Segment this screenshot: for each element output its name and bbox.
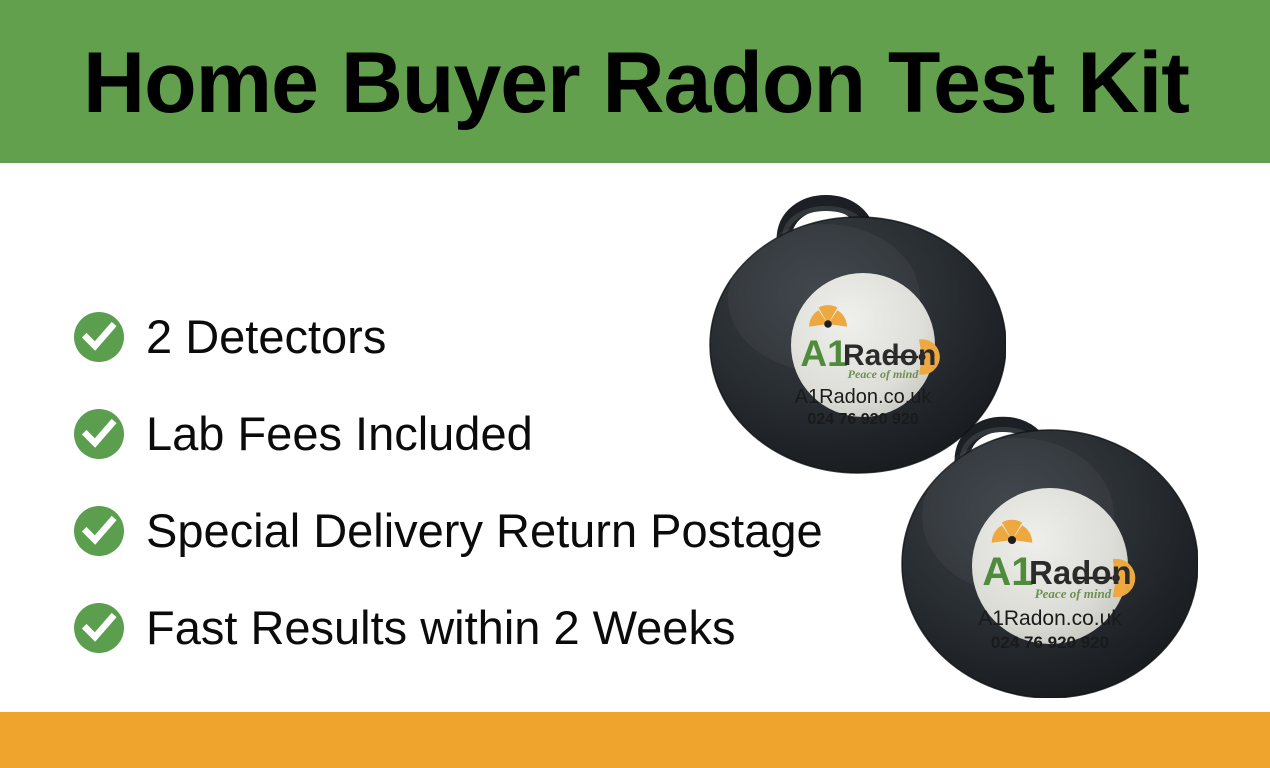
product-banner: Home Buyer Radon Test Kit 2 Detectors La… (0, 0, 1270, 768)
footer-banner (0, 712, 1270, 768)
label-website: A1Radon.co.uk (795, 386, 933, 408)
check-circle-icon (74, 409, 124, 459)
label-website: A1Radon.co.uk (978, 607, 1122, 630)
label-brand-a1: A1 (982, 550, 1033, 594)
label-phone: 024 76 920 920 (807, 411, 918, 428)
check-circle-icon (74, 506, 124, 556)
label-tagline: Peace of mind (848, 367, 920, 381)
list-item-label: Lab Fees Included (146, 408, 533, 460)
check-circle-icon (74, 312, 124, 362)
list-item: Special Delivery Return Postage (74, 482, 894, 579)
list-item-label: 2 Detectors (146, 311, 386, 363)
list-item: Fast Results within 2 Weeks (74, 579, 894, 676)
label-phone: 024 76 920 920 (991, 633, 1109, 652)
list-item-label: Special Delivery Return Postage (146, 505, 823, 557)
page-title: Home Buyer Radon Test Kit (83, 33, 1189, 133)
check-circle-icon (74, 603, 124, 653)
label-tagline: Peace of mind (1035, 586, 1112, 601)
radon-detector-front: A1 Radon Peace of mind A1Radon.co.uk 024… (706, 178, 1006, 474)
list-item-label: Fast Results within 2 Weeks (146, 602, 735, 654)
header-banner: Home Buyer Radon Test Kit (0, 0, 1270, 163)
label-brand-a1: A1 (800, 333, 847, 374)
